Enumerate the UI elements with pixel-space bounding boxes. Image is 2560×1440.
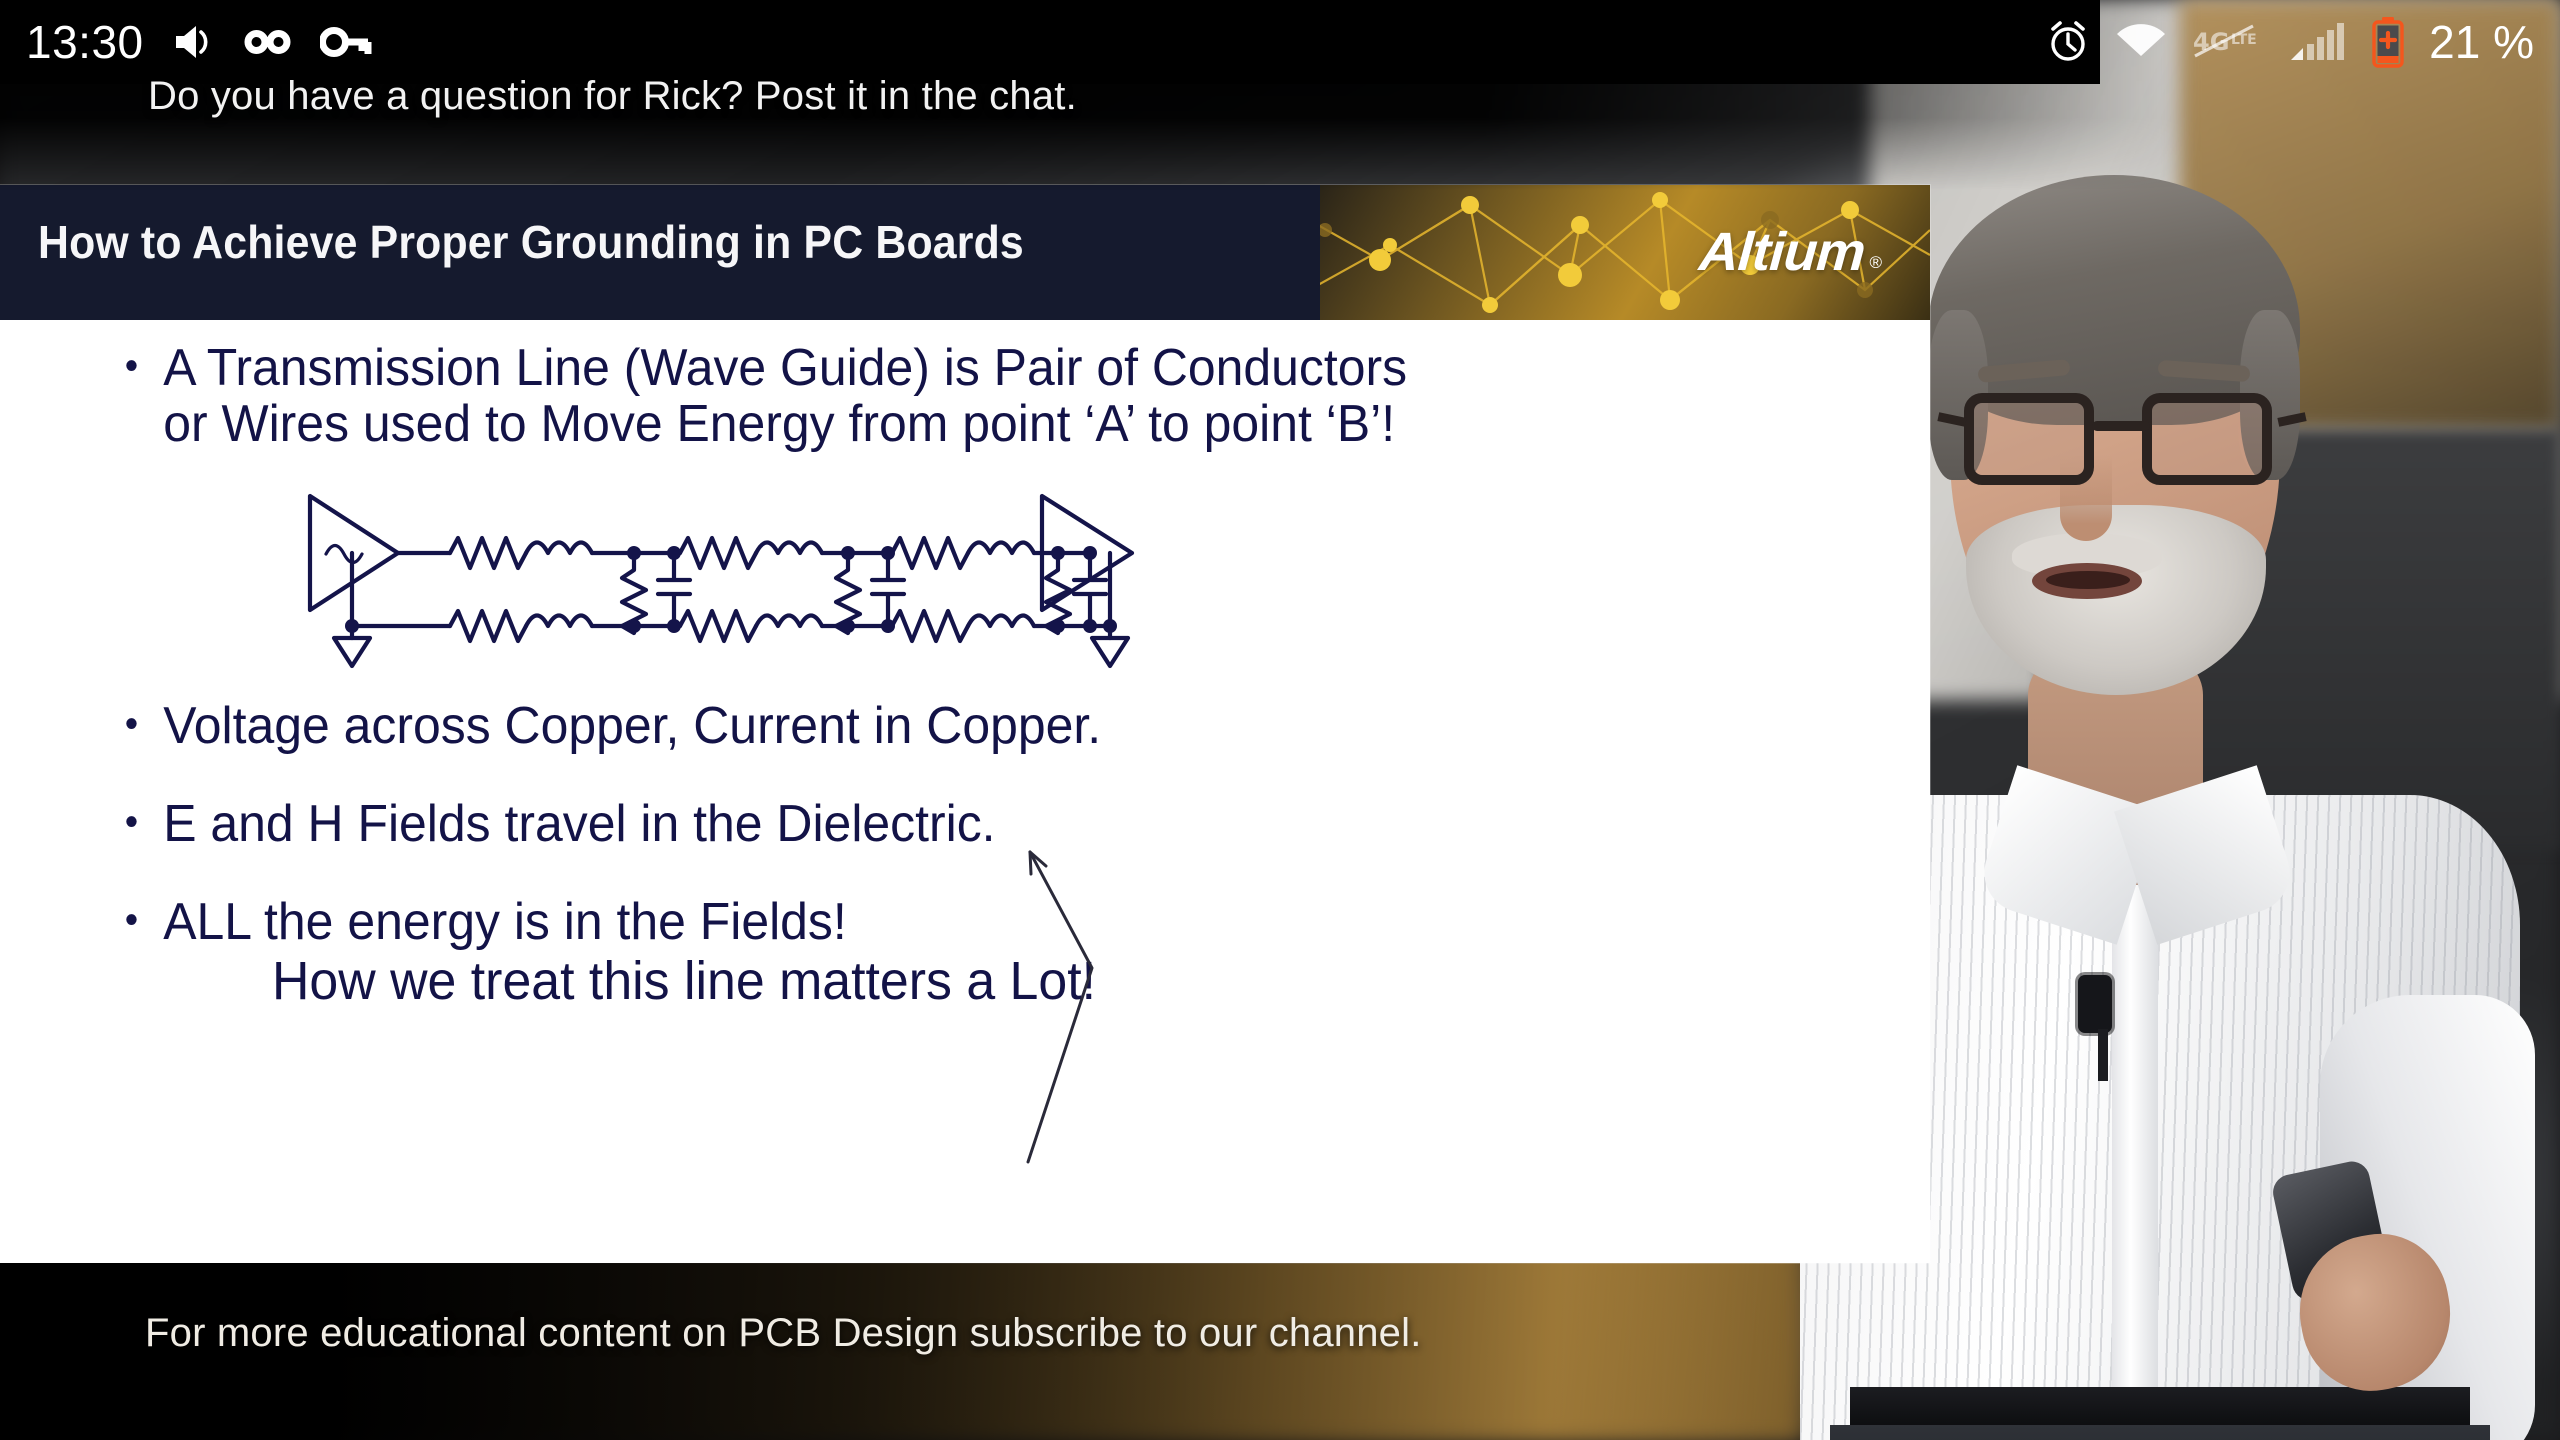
list-item: • Voltage across Copper, Current in Copp… bbox=[0, 698, 1853, 754]
battery-charging-icon[interactable] bbox=[2371, 16, 2405, 68]
bullet-dot-icon: • bbox=[0, 340, 138, 392]
bullet-text: A Transmission Line (Wave Guide) is Pair… bbox=[163, 340, 1407, 452]
pointer-arrow bbox=[1020, 840, 1140, 1170]
bullet-text: ALL the energy is in the Fields! bbox=[163, 894, 847, 950]
pointer-arrow-svg bbox=[1020, 840, 1140, 1170]
altium-wordmark: Altium bbox=[1698, 221, 1868, 283]
eyeglasses-icon bbox=[1956, 385, 2286, 495]
bottom-caption-text: For more educational content on PCB Desi… bbox=[145, 1311, 1422, 1356]
bottom-caption-bar: For more educational content on PCB Desi… bbox=[0, 1263, 2560, 1440]
status-bar-right-group: 4G LTE 21 % bbox=[2045, 15, 2534, 69]
altium-logo: Altium ® bbox=[1701, 221, 1882, 283]
bullet-text: E and H Fields travel in the Dielectric. bbox=[163, 796, 995, 852]
infinity-icon[interactable] bbox=[242, 25, 294, 59]
alarm-clock-icon[interactable] bbox=[2045, 19, 2091, 65]
bullet-list-main: • Voltage across Copper, Current in Copp… bbox=[0, 698, 1930, 992]
sine-wave-symbol bbox=[326, 546, 362, 563]
bullet-dot-icon: • bbox=[0, 894, 138, 946]
status-bar: 13:30 bbox=[0, 0, 2560, 84]
chat-prompt-overlay: Do you have a question for Rick? Post it… bbox=[148, 74, 1077, 119]
presenter-mouth-inner bbox=[2046, 571, 2130, 589]
wifi-icon[interactable] bbox=[2115, 22, 2167, 62]
presenter-beard bbox=[1966, 505, 2266, 695]
ground-symbol-left bbox=[334, 638, 370, 666]
circuit-schematic-svg bbox=[300, 488, 1140, 678]
key-icon[interactable] bbox=[320, 25, 374, 59]
bullet-dot-icon: • bbox=[0, 796, 138, 848]
slide-header-bar: How to Achieve Proper Grounding in PC Bo… bbox=[0, 185, 1930, 320]
eyeglass-lens-left bbox=[1964, 393, 2094, 485]
page-title: How to Achieve Proper Grounding in PC Bo… bbox=[38, 215, 1024, 269]
list-item: • E and H Fields travel in the Dielectri… bbox=[0, 796, 1853, 852]
lapel-microphone-icon bbox=[2078, 975, 2112, 1033]
list-item: • A Transmission Line (Wave Guide) is Pa… bbox=[0, 340, 1853, 452]
bullet-text: Voltage across Copper, Current in Copper… bbox=[163, 698, 1101, 754]
transmission-line-circuit-diagram bbox=[300, 488, 1140, 678]
closing-statement: How we treat this line matters a Lot! bbox=[272, 950, 1096, 1012]
clock: 13:30 bbox=[26, 15, 144, 69]
presentation-slide[interactable]: How to Achieve Proper Grounding in PC Bo… bbox=[0, 185, 1930, 1263]
eyeglass-lens-right bbox=[2142, 393, 2272, 485]
slide-body: • A Transmission Line (Wave Guide) is Pa… bbox=[0, 320, 1930, 1263]
lte-off-icon[interactable]: 4G LTE bbox=[2191, 22, 2265, 62]
bullet-dot-icon: • bbox=[0, 698, 138, 750]
battery-percentage: 21 % bbox=[2429, 15, 2534, 69]
registered-trademark-icon: ® bbox=[1869, 253, 1882, 283]
microphone-cable bbox=[2098, 1029, 2108, 1081]
bullet-list-intro: • A Transmission Line (Wave Guide) is Pa… bbox=[0, 340, 1930, 452]
volume-icon[interactable] bbox=[170, 22, 216, 62]
ground-symbol-right bbox=[1092, 638, 1128, 666]
eyeglass-bridge bbox=[2092, 421, 2150, 431]
cellular-signal-icon[interactable] bbox=[2289, 20, 2347, 64]
status-bar-left-group: 13:30 bbox=[26, 15, 374, 69]
list-item: • ALL the energy is in the Fields! bbox=[0, 894, 1853, 950]
